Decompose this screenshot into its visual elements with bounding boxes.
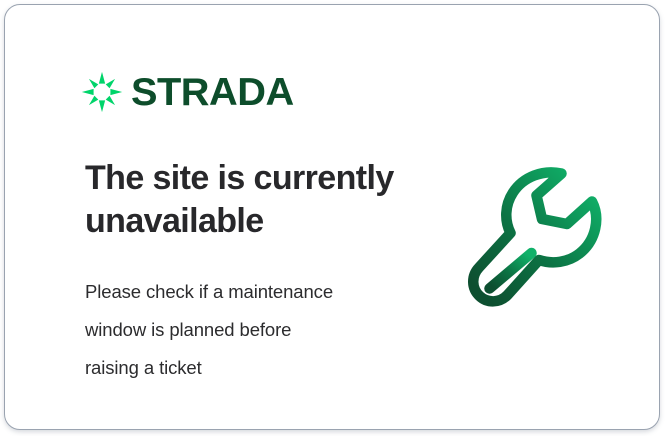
maintenance-card: STRADA The site is currently unavailable… (4, 4, 660, 430)
wrench-illustration (457, 157, 619, 317)
headline-line: The site is currently (85, 157, 415, 200)
wrench-icon (457, 157, 619, 317)
page-description: Please check if a maintenance window is … (85, 273, 415, 387)
description-line: raising a ticket (85, 349, 415, 387)
description-line: window is planned before (85, 311, 415, 349)
headline-line: unavailable (85, 200, 415, 243)
strada-asterisk-icon (81, 71, 123, 113)
brand-logo: STRADA (81, 71, 291, 113)
page-title: The site is currently unavailable (85, 157, 415, 243)
brand-wordmark: STRADA (131, 73, 294, 112)
description-line: Please check if a maintenance (85, 273, 415, 311)
